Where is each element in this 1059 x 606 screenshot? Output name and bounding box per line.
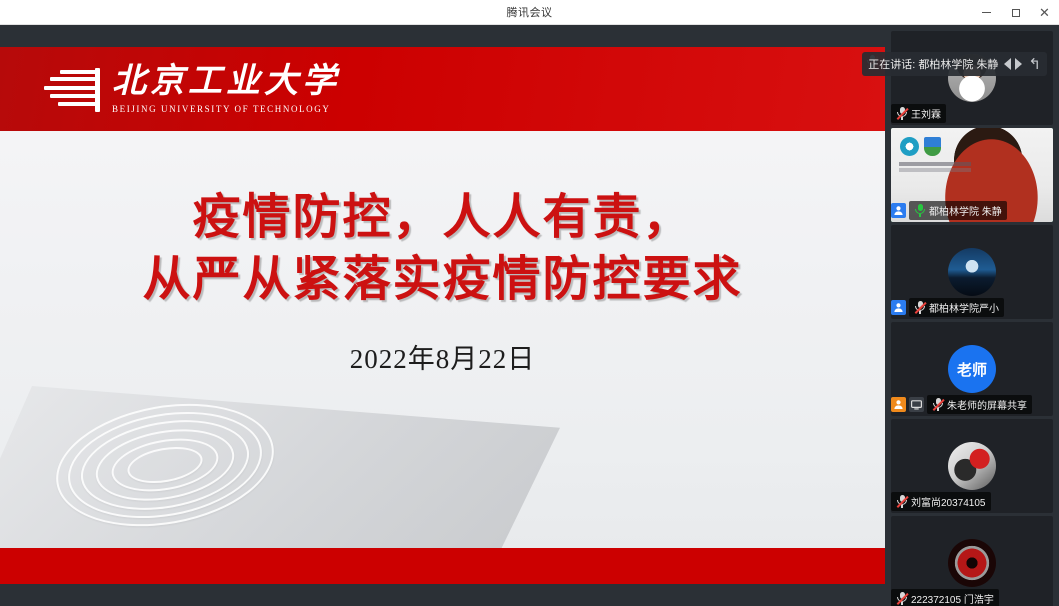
window-title: 腾讯会议 xyxy=(507,4,553,20)
name-chip: 222372105 门浩宇 xyxy=(891,589,999,606)
mic-muted-icon xyxy=(896,107,908,120)
name-chip: 都柏林学院严小 xyxy=(909,298,1004,317)
attendee-badge-icon xyxy=(891,203,906,218)
mic-muted-icon xyxy=(932,398,944,411)
gallery-nav-arrows[interactable] xyxy=(1004,58,1022,70)
attendee-badge-icon xyxy=(891,300,906,315)
university-name-en: BEIJING UNIVERSITY OF TECHNOLOGY xyxy=(112,104,340,114)
window-controls: ✕ xyxy=(972,0,1059,25)
collapse-sidebar-icon[interactable]: ↰ xyxy=(1028,57,1041,72)
shared-slide-badges xyxy=(900,137,941,156)
mic-muted-icon xyxy=(896,495,908,508)
presentation-slide: 北京工业大学 BEIJING UNIVERSITY OF TECHNOLOGY … xyxy=(0,47,885,584)
participant-tile[interactable]: 王刘霖 xyxy=(891,31,1053,125)
slide-header-band: 北京工业大学 BEIJING UNIVERSITY OF TECHNOLOGY xyxy=(0,47,885,131)
participant-name: 都柏林学院 朱静 xyxy=(929,203,1002,218)
participant-name: 都柏林学院严小 xyxy=(929,300,999,315)
prev-page-icon[interactable] xyxy=(1004,58,1011,70)
avatar: 老师 xyxy=(948,345,996,393)
minimize-button[interactable] xyxy=(972,0,1001,25)
participant-name: 朱老师的屏幕共享 xyxy=(947,397,1027,412)
host-badge-icon xyxy=(891,397,906,412)
mic-muted-icon xyxy=(914,301,926,314)
slide-date: 2022年8月22日 xyxy=(0,337,885,376)
screen-share-icon xyxy=(909,397,924,412)
tencent-meeting-window: 腾讯会议 ✕ 北京工业大学 BEIJING UNIVERSITY OF TECH… xyxy=(0,0,1059,606)
shared-screen-area[interactable]: 北京工业大学 BEIJING UNIVERSITY OF TECHNOLOGY … xyxy=(0,47,885,584)
avatar-initials: 老师 xyxy=(957,359,987,380)
name-chip: 刘富尚20374105 xyxy=(891,492,991,511)
university-name-cn: 北京工业大学 xyxy=(112,65,340,99)
shared-slide-caption xyxy=(899,162,971,172)
tile-footer: 王刘霖 xyxy=(891,102,951,125)
participant-name: 刘富尚20374105 xyxy=(911,494,986,509)
name-chip: 王刘霖 xyxy=(891,104,946,123)
decorative-rings xyxy=(55,406,275,526)
maximize-button[interactable] xyxy=(1001,0,1030,25)
bjut-logo-icon xyxy=(42,64,100,114)
university-logo-text: 北京工业大学 BEIJING UNIVERSITY OF TECHNOLOGY xyxy=(112,65,340,114)
participant-tile[interactable]: 都柏林学院严小 xyxy=(891,225,1053,319)
participant-tile[interactable]: 222372105 门浩宇 xyxy=(891,516,1053,606)
avatar xyxy=(948,539,996,587)
participant-tile[interactable]: 刘富尚20374105 xyxy=(891,419,1053,513)
active-speaker-label: 正在讲话: 都柏林学院 朱静 xyxy=(868,56,998,72)
participant-tile[interactable]: 都柏林学院 朱静 xyxy=(891,128,1053,222)
window-title-bar: 腾讯会议 ✕ xyxy=(0,0,1059,25)
tile-footer: 刘富尚20374105 xyxy=(891,490,996,513)
tile-footer: 朱老师的屏幕共享 xyxy=(891,393,1037,416)
mic-muted-icon xyxy=(896,592,908,605)
mic-active-icon xyxy=(914,204,926,217)
participant-tile[interactable]: 老师 朱老师的屏幕共享 xyxy=(891,322,1053,416)
name-chip: 都柏林学院 朱静 xyxy=(909,201,1007,220)
avatar xyxy=(948,248,996,296)
active-speaker-bar: 正在讲话: 都柏林学院 朱静 ↰ xyxy=(862,52,1047,76)
university-logo: 北京工业大学 BEIJING UNIVERSITY OF TECHNOLOGY xyxy=(42,64,340,114)
avatar xyxy=(948,442,996,490)
slide-title: 疫情防控，人人有责， 从严从紧落实疫情防控要求 xyxy=(0,187,885,311)
tile-footer: 都柏林学院严小 xyxy=(891,296,1009,319)
tile-footer: 都柏林学院 朱静 xyxy=(891,199,1012,222)
participant-name: 222372105 门浩宇 xyxy=(911,591,994,606)
participants-sidebar[interactable]: 王刘霖 都柏林学院 朱静 xyxy=(885,25,1059,606)
slide-footer-band xyxy=(0,548,885,584)
tile-footer: 222372105 门浩宇 xyxy=(891,587,1004,606)
next-page-icon[interactable] xyxy=(1015,58,1022,70)
participant-name: 王刘霖 xyxy=(911,106,941,121)
close-button[interactable]: ✕ xyxy=(1030,0,1059,25)
meeting-body: 北京工业大学 BEIJING UNIVERSITY OF TECHNOLOGY … xyxy=(0,25,1059,606)
slide-body: 疫情防控，人人有责， 从严从紧落实疫情防控要求 2022年8月22日 xyxy=(0,131,885,584)
name-chip: 朱老师的屏幕共享 xyxy=(927,395,1032,414)
